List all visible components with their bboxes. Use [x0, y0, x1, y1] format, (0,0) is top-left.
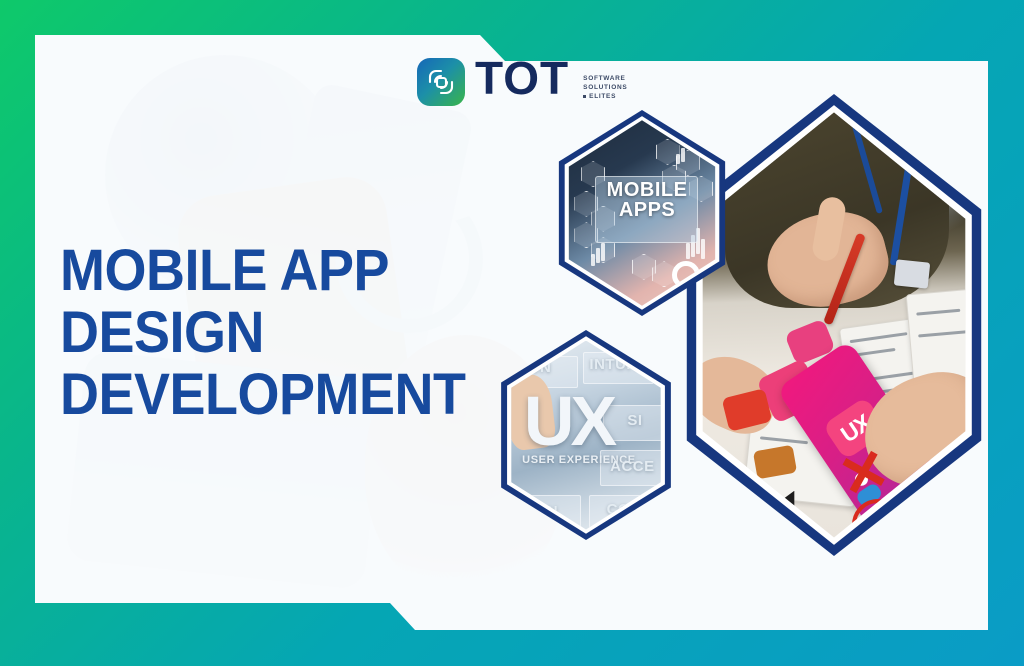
- logo-tagline-line-2: SOLUTIONS: [583, 83, 627, 92]
- brand-logo[interactable]: TOT SOFTWARE SOLUTIONS ELITES: [417, 58, 627, 106]
- ux-caption: UX: [524, 386, 613, 456]
- logo-wordmark: TOT: [475, 58, 569, 98]
- mobile-apps-caption: MOBILE APPS: [598, 180, 696, 220]
- page-title-line-1: MOBILE APP DESIGN: [60, 238, 388, 365]
- logo-tagline-line-3: ELITES: [583, 92, 627, 101]
- mobile-apps-caption-line-1: MOBILE: [598, 180, 696, 200]
- logo-tagline: SOFTWARE SOLUTIONS ELITES: [583, 74, 627, 101]
- mobile-apps-caption-line-2: APPS: [598, 200, 696, 220]
- scan-fingerprint-icon: [417, 58, 465, 106]
- hexagon-mobile-apps: MOBILE APPS: [546, 110, 738, 316]
- logo-tagline-line-3-text: ELITES: [589, 93, 616, 100]
- ux-side-word-3: SI: [627, 412, 642, 429]
- banner-root: TOT SOFTWARE SOLUTIONS ELITES MOBILE APP…: [0, 0, 1024, 666]
- bullet-icon: [583, 95, 586, 98]
- hexagon-ux: UX USER EXPERIENCE TION INTUITI SI ACCE …: [488, 330, 684, 540]
- logo-tagline-line-1: SOFTWARE: [583, 74, 627, 83]
- page-title: MOBILE APP DESIGN DEVELOPMENT: [60, 240, 497, 426]
- page-title-line-2: DEVELOPMENT: [60, 364, 497, 426]
- ux-side-word-4: ACCE: [610, 458, 655, 475]
